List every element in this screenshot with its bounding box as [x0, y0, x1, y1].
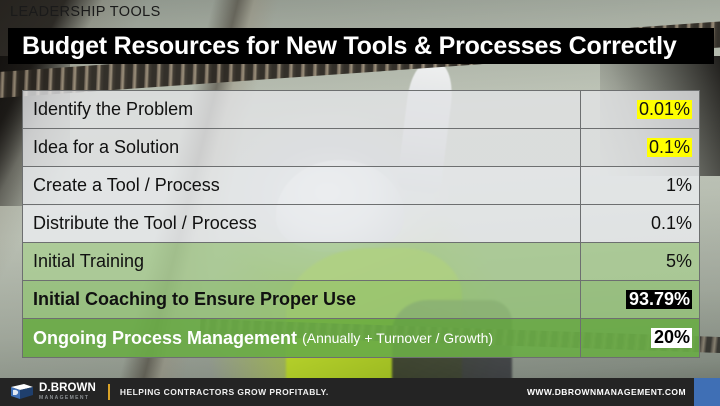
table-row: Initial Coaching to Ensure Proper Use93.… — [23, 281, 699, 319]
table-row: Ongoing Process Management(Annually + Tu… — [23, 319, 699, 357]
table-cell-activity: Initial Training — [23, 243, 581, 280]
table-row: Initial Training5% — [23, 243, 699, 281]
brand-subtitle: MANAGEMENT — [39, 396, 96, 401]
table-cell-percentage: 1% — [581, 167, 699, 204]
table-cell-percentage: 0.1% — [581, 205, 699, 242]
table-cell-percentage: 0.01% — [581, 91, 699, 128]
activity-label: Identify the Problem — [33, 99, 193, 120]
table-cell-activity: Ongoing Process Management(Annually + Tu… — [23, 319, 581, 357]
table-row: Identify the Problem0.01% — [23, 91, 699, 129]
activity-label: Idea for a Solution — [33, 137, 179, 158]
slide-title-bar: Budget Resources for New Tools & Process… — [8, 28, 714, 64]
budget-allocation-table: Identify the Problem0.01%Idea for a Solu… — [22, 90, 700, 358]
activity-label: Create a Tool / Process — [33, 175, 220, 196]
table-cell-percentage: 0.1% — [581, 129, 699, 166]
table-row: Create a Tool / Process1% — [23, 167, 699, 205]
activity-label: Initial Coaching to Ensure Proper Use — [33, 289, 356, 310]
brand-logo-text: D.BROWN MANAGEMENT — [39, 383, 96, 401]
footer-website-url[interactable]: WWW.DBROWNMANAGEMENT.COM — [527, 387, 720, 397]
activity-note: (Annually + Turnover / Growth) — [297, 330, 493, 346]
table-cell-activity: Identify the Problem — [23, 91, 581, 128]
percentage-value: 0.01% — [637, 100, 692, 120]
table-cell-percentage: 93.79% — [581, 281, 699, 318]
percentage-value: 5% — [666, 251, 692, 272]
table-cell-activity: Create a Tool / Process — [23, 167, 581, 204]
percentage-value: 20% — [651, 328, 692, 348]
table-row: Distribute the Tool / Process0.1% — [23, 205, 699, 243]
table-cell-percentage: 5% — [581, 243, 699, 280]
activity-label: Initial Training — [33, 251, 144, 272]
table-cell-percentage: 20% — [581, 319, 699, 357]
slide-eyebrow: LEADERSHIP TOOLS — [10, 4, 161, 20]
activity-label: Distribute the Tool / Process — [33, 213, 257, 234]
brand-name: D.BROWN — [39, 383, 96, 395]
percentage-value: 93.79% — [626, 290, 692, 310]
table-row: Idea for a Solution0.1% — [23, 129, 699, 167]
table-cell-activity: Distribute the Tool / Process — [23, 205, 581, 242]
dbrown-cube-icon — [8, 383, 34, 402]
footer-divider — [108, 384, 110, 400]
slide-canvas: LEADERSHIP TOOLS Budget Resources for Ne… — [0, 0, 720, 406]
percentage-value: 1% — [666, 175, 692, 196]
footer-accent-square — [694, 378, 720, 406]
percentage-value: 0.1% — [651, 213, 692, 234]
footer-tagline: HELPING CONTRACTORS GROW PROFITABLY. — [120, 387, 329, 397]
table-cell-activity: Initial Coaching to Ensure Proper Use — [23, 281, 581, 318]
slide-footer: D.BROWN MANAGEMENT HELPING CONTRACTORS G… — [0, 378, 720, 406]
brand-logo[interactable]: D.BROWN MANAGEMENT — [0, 383, 96, 402]
percentage-value: 0.1% — [647, 138, 692, 158]
page-title: Budget Resources for New Tools & Process… — [8, 32, 677, 61]
activity-label: Ongoing Process Management — [33, 328, 297, 349]
table-cell-activity: Idea for a Solution — [23, 129, 581, 166]
